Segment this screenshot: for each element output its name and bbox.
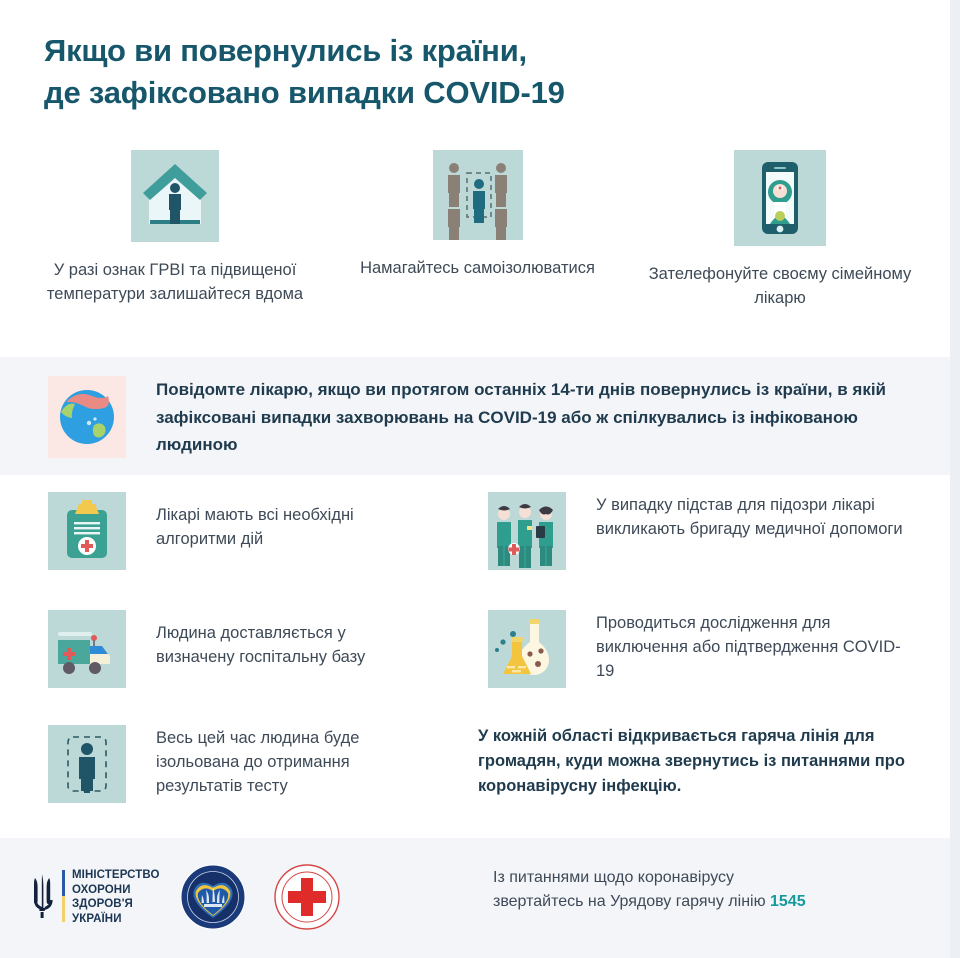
advice-card-self-isolate: Намагайтесь самоізолюватися: [355, 150, 600, 281]
phone-doctor-call-icon: [734, 150, 826, 246]
procedure-item-text: Проводиться дослідження для виключення а…: [596, 612, 918, 684]
notify-doctor-banner: Повідомте лікарю, якщо ви протягом остан…: [0, 357, 950, 475]
medical-team-icon: [488, 492, 566, 570]
ambulance-icon: [48, 610, 126, 688]
ministry-logo-line-1: МІНІСТЕРСТВО: [72, 868, 160, 883]
red-cross-society-seal-icon: [274, 864, 340, 930]
isolated-person-icon: [48, 725, 126, 803]
advice-card-caption: Зателефонуйте своєму сімейному лікарю: [630, 263, 930, 311]
footer-note-prefix: звертайтесь на Урядову гарячу лінію: [493, 893, 770, 910]
house-with-person-icon: [131, 150, 219, 242]
ukraine-trident-icon: [32, 872, 54, 920]
top-advice-row: У разі ознак ГРВІ та підвищеної температ…: [0, 150, 950, 340]
page-title: Якщо ви повернулись із країни, де зафікс…: [44, 30, 894, 113]
title-line-1: Якщо ви повернулись із країни,: [44, 30, 894, 72]
footer-note-line-2: звертайтесь на Урядову гарячу лінію 1545: [493, 890, 923, 914]
procedure-item-text: Весь цей час людина буде ізольована до о…: [156, 727, 428, 799]
ministry-logo-line-3: ЗДОРОВ'Я: [72, 897, 160, 912]
procedure-item-text: У випадку підстав для підозри лікарі вик…: [596, 494, 918, 542]
medical-clipboard-icon: [48, 492, 126, 570]
procedure-item-text: Лікарі мають всі необхідні алгоритми дій: [156, 504, 428, 552]
procedure-item-text: Людина доставляється у визначену госпіта…: [156, 622, 428, 670]
globe-earth-icon: [48, 376, 126, 458]
lab-flask-icon: [488, 610, 566, 688]
ministry-logo-wordmark: МІНІСТЕРСТВО ОХОРОНИ ЗДОРОВ'Я УКРАЇНИ: [72, 868, 160, 927]
footer-hotline-text: Із питаннями щодо коронавірусу звертайте…: [493, 866, 923, 914]
footer: МІНІСТЕРСТВО ОХОРОНИ ЗДОРОВ'Я УКРАЇНИ: [0, 838, 950, 958]
advice-card-call-doctor: Зателефонуйте своєму сімейному лікарю: [630, 150, 930, 311]
ministry-of-health-logo: МІНІСТЕРСТВО ОХОРОНИ ЗДОРОВ'Я УКРАЇНИ: [32, 866, 160, 928]
footer-note-line-1: Із питаннями щодо коронавірусу: [493, 866, 923, 890]
title-line-2: де зафіксовано випадки COVID-19: [44, 72, 894, 114]
ministry-logo-line-4: УКРАЇНИ: [72, 912, 160, 927]
logo-divider: [62, 870, 65, 922]
ministry-logo-line-2: ОХОРОНИ: [72, 883, 160, 898]
advice-card-caption: У разі ознак ГРВІ та підвищеної температ…: [25, 259, 325, 307]
advice-card-caption: Намагайтесь самоізолюватися: [355, 257, 600, 281]
self-isolation-people-icon: [433, 150, 523, 240]
advice-card-stay-home: У разі ознак ГРВІ та підвищеної температ…: [25, 150, 325, 307]
hotline-number: 1545: [770, 893, 806, 910]
regional-hotline-note: У кожній області відкривається гаряча лі…: [478, 724, 928, 798]
banner-text: Повідомте лікарю, якщо ви протягом остан…: [156, 376, 916, 459]
infographic-page: Якщо ви повернулись із країни, де зафікс…: [0, 0, 950, 958]
presidential-hospital-seal-icon: [180, 864, 246, 930]
procedure-section: Лікарі мають всі необхідні алгоритми дій: [0, 492, 950, 832]
